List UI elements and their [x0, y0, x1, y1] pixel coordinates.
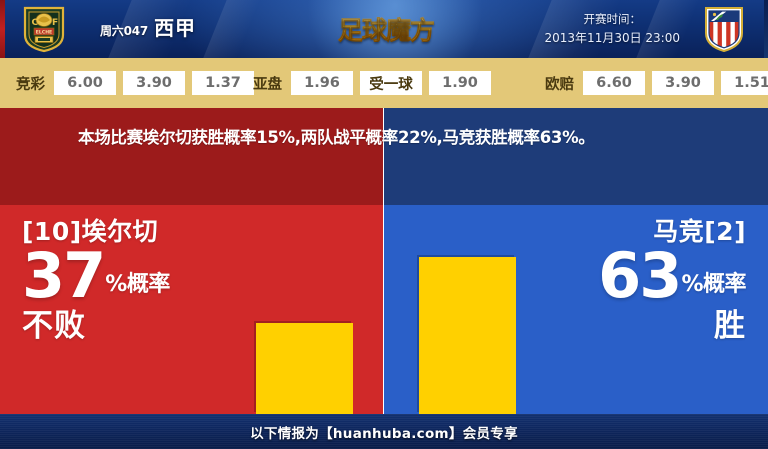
odds-value-away[interactable]: 1.51: [721, 71, 768, 95]
header-right-accent: [764, 0, 768, 58]
odds-group-asian-handicap: 亚盘 1.96 受一球 1.90: [253, 71, 491, 95]
bar-away-probability: [419, 257, 516, 414]
away-team-crest-icon: [698, 4, 750, 54]
home-probability-unit: %概率: [105, 266, 170, 304]
odds-value-away[interactable]: 1.90: [429, 71, 491, 95]
probability-statement-text: 本场比赛埃尔切获胜概率15%,两队战平概率22%,马竞获胜概率63%。: [78, 125, 710, 152]
home-outcome-label: 不败: [22, 310, 170, 343]
brand-logo-text: 足球魔方: [338, 11, 434, 47]
league-info: 周六047 西甲: [100, 12, 196, 41]
home-team-crest-icon: C F ELCHE: [18, 4, 70, 54]
header-light-ray: [203, 0, 260, 58]
header-bar: C F ELCHE 周六047 西甲 足球魔方 开赛时间： 2013年11月30…: [0, 0, 768, 58]
odds-group-jingcai: 竞彩 6.00 3.90 1.37: [16, 71, 254, 95]
svg-text:F: F: [52, 18, 58, 28]
odds-value-handicap[interactable]: 受一球: [360, 71, 422, 95]
away-probability-unit: %概率: [681, 266, 746, 304]
odds-value-away[interactable]: 1.37: [192, 71, 254, 95]
odds-value-draw[interactable]: 3.90: [123, 71, 185, 95]
probability-statement-banner: 本场比赛埃尔切获胜概率15%,两队战平概率22%,马竞获胜概率63%。: [0, 108, 768, 205]
odds-value-home[interactable]: 6.00: [54, 71, 116, 95]
odds-bar: 竞彩 6.00 3.90 1.37 亚盘 1.96 受一球 1.90 欧赔 6.…: [0, 58, 768, 108]
svg-text:ELCHE: ELCHE: [36, 30, 52, 36]
footer-notice-text: 以下情报为【huanhuba.com】会员专享: [250, 422, 518, 442]
odds-group-label: 竞彩: [16, 73, 45, 94]
probability-chart: [10]埃尔切 37 %概率 不败 马竞[2] 63 %概率 胜: [0, 205, 768, 414]
away-outcome-label: 胜: [598, 310, 746, 343]
odds-group-label: 亚盘: [253, 73, 282, 94]
odds-group-label: 欧赔: [545, 73, 574, 94]
away-probability-value: 63: [598, 247, 680, 304]
round-label: 周六047: [100, 22, 148, 39]
away-probability-row: 63 %概率: [598, 247, 746, 304]
odds-value-draw[interactable]: 3.90: [652, 71, 714, 95]
brand-logo: 足球魔方: [322, 8, 450, 50]
footer-bar: 以下情报为【huanhuba.com】会员专享: [0, 414, 768, 449]
panel-divider: [383, 205, 384, 414]
bar-home-probability: [256, 323, 353, 414]
away-team-stats: 马竞[2] 63 %概率 胜: [598, 219, 746, 343]
league-name: 西甲: [154, 12, 196, 41]
statement-blue-half: [384, 108, 768, 205]
kickoff-label: 开赛时间：: [545, 11, 680, 29]
odds-value-home[interactable]: 6.60: [583, 71, 645, 95]
kickoff-time: 2013年11月30日 23:00: [545, 29, 680, 48]
statement-red-half: [0, 108, 383, 205]
statement-divider: [383, 108, 384, 205]
odds-group-european: 欧赔 6.60 3.90 1.51: [545, 71, 768, 95]
header-left-accent: [0, 0, 5, 58]
svg-text:C: C: [32, 18, 39, 28]
home-probability-value: 37: [22, 247, 104, 304]
home-probability-row: 37 %概率: [22, 247, 170, 304]
odds-value-home[interactable]: 1.96: [291, 71, 353, 95]
kickoff-info: 开赛时间： 2013年11月30日 23:00: [545, 11, 680, 47]
match-prediction-graphic: C F ELCHE 周六047 西甲 足球魔方 开赛时间： 2013年11月30…: [0, 0, 768, 449]
home-team-stats: [10]埃尔切 37 %概率 不败: [22, 219, 170, 343]
